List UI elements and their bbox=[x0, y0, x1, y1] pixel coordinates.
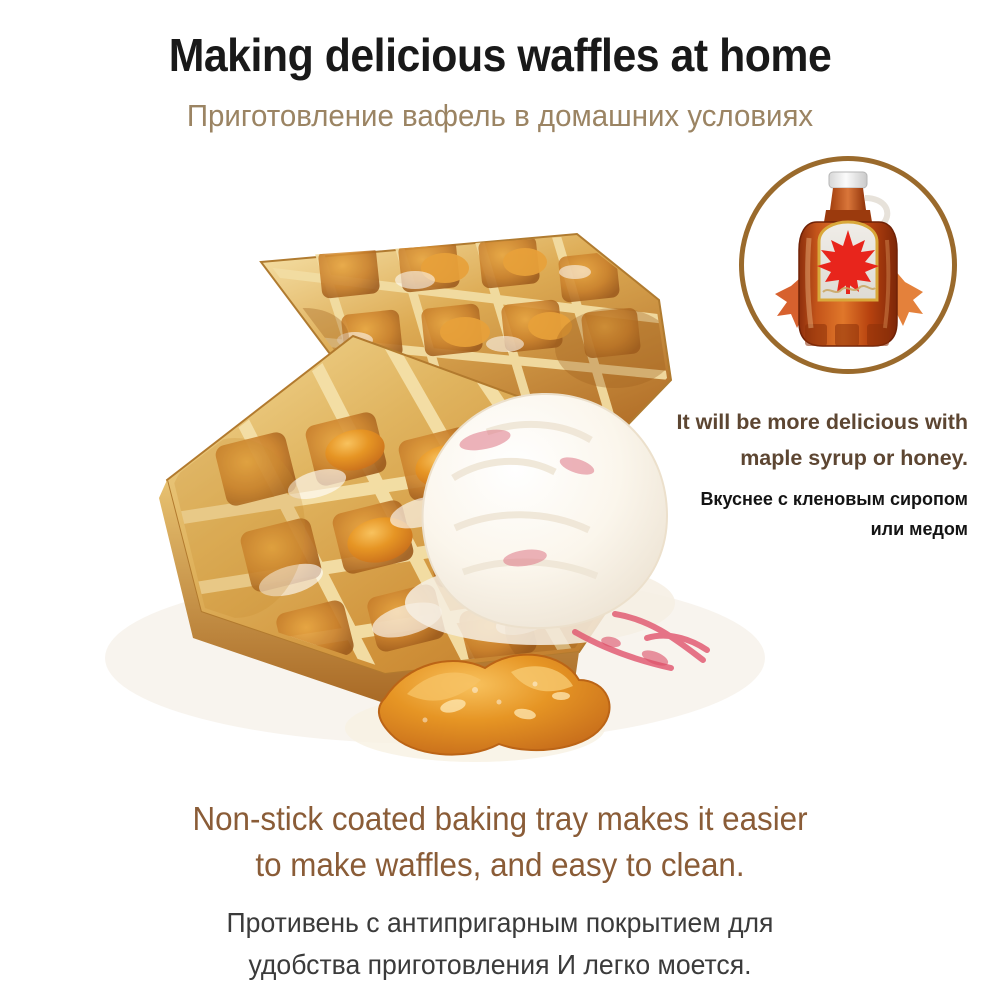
side-copy-russian: Вкуснее с кленовым сиропом или медом bbox=[600, 484, 968, 544]
side-copy-russian-line-2: или медом bbox=[600, 514, 968, 544]
maple-syrup-badge bbox=[739, 156, 957, 374]
bottom-copy-russian-line-1: Противень с антипригарным покрытием для bbox=[25, 902, 975, 944]
bottom-copy-english-line-1: Non-stick coated baking tray makes it ea… bbox=[25, 796, 975, 842]
side-copy-english-line-2: maple syrup or honey. bbox=[600, 440, 968, 476]
bottom-copy-russian-line-2: удобства приготовления И легко моется. bbox=[25, 944, 975, 986]
product-banner: Making delicious waffles at home Пригото… bbox=[0, 0, 1000, 1000]
page-title: Making delicious waffles at home bbox=[35, 28, 965, 82]
maple-syrup-bottle-icon bbox=[773, 168, 923, 364]
side-copy-block: It will be more delicious with maple syr… bbox=[600, 404, 968, 544]
page-subtitle: Приготовление вафель в домашних условиях bbox=[25, 98, 975, 134]
bottom-copy-russian: Противень с антипригарным покрытием для … bbox=[25, 902, 975, 986]
side-copy-english-line-1: It will be more delicious with bbox=[600, 404, 968, 440]
bottom-copy-english-line-2: to make waffles, and easy to clean. bbox=[25, 842, 975, 888]
side-copy-english: It will be more delicious with maple syr… bbox=[600, 404, 968, 476]
bottom-copy-english: Non-stick coated baking tray makes it ea… bbox=[25, 796, 975, 888]
side-copy-russian-line-1: Вкуснее с кленовым сиропом bbox=[600, 484, 968, 514]
